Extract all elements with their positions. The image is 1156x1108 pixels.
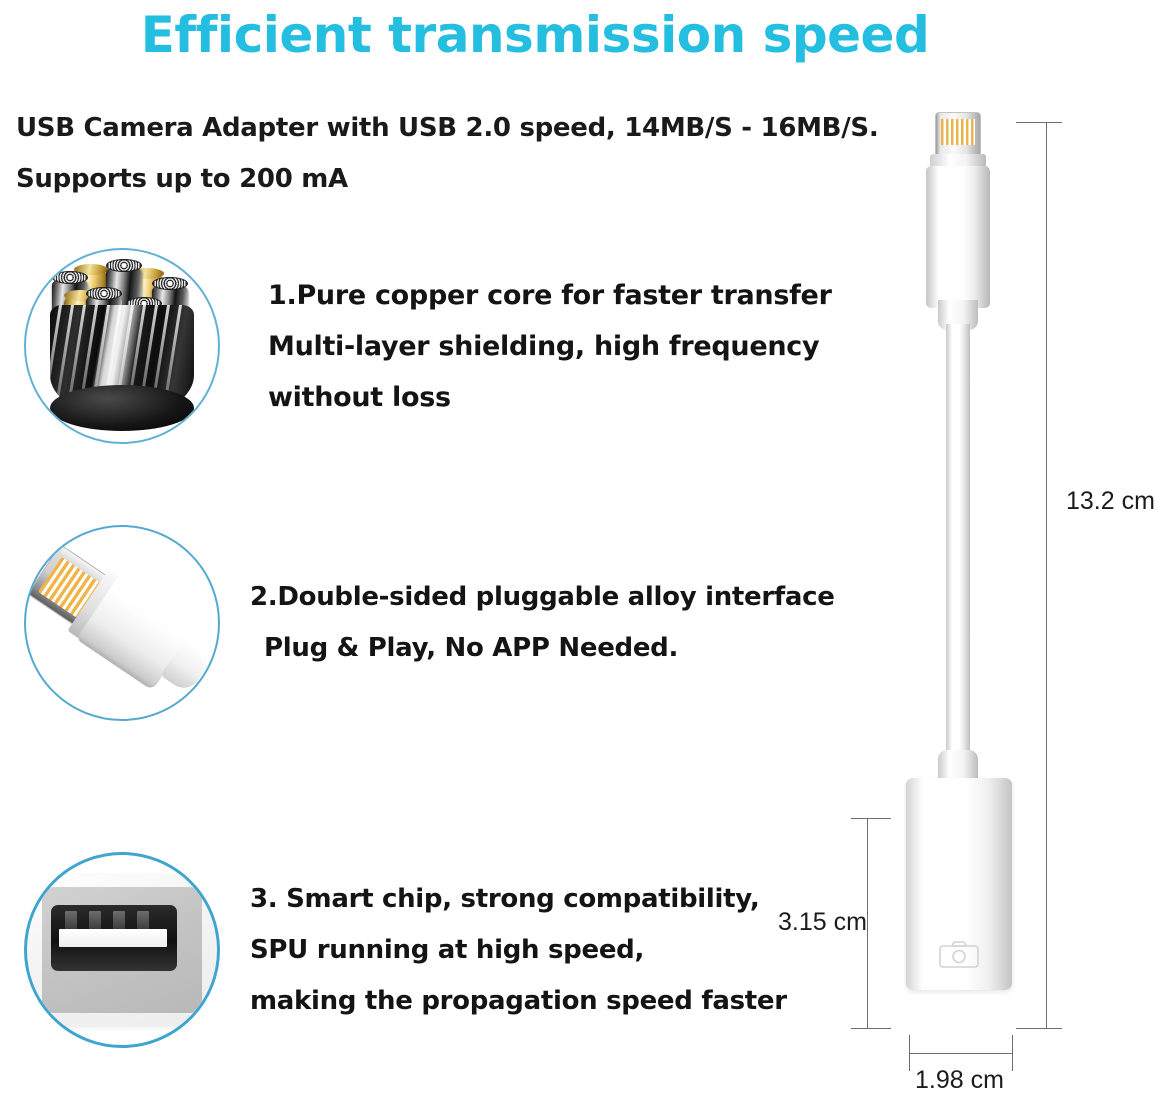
dim-line-adapter-height [867, 818, 868, 1028]
feature-3-line-1: 3. Smart chip, strong compatibility, [250, 874, 787, 925]
dim-tick-total-length-top [1016, 122, 1062, 123]
usb-adapter-body [906, 778, 1012, 990]
dim-tick-total-length-bottom [1016, 1028, 1062, 1029]
dim-tick-adapter-width-right [1012, 1035, 1013, 1071]
feature-1-line-3: without loss [268, 372, 832, 423]
dim-tick-adapter-height-bottom [851, 1028, 891, 1029]
dim-label-adapter-height: 3.15 cm [778, 908, 867, 937]
feature-2-text: 2.Double-sided pluggable alloy interface… [250, 572, 835, 674]
page-title: Efficient transmission speed [0, 6, 1070, 64]
dim-label-adapter-width: 1.98 cm [915, 1066, 1004, 1095]
feature-row-3: 3. Smart chip, strong compatibility, SPU… [24, 852, 844, 1048]
subtitle-block: USB Camera Adapter with USB 2.0 speed, 1… [16, 103, 896, 205]
infographic-page: Efficient transmission speed USB Camera … [0, 0, 1156, 1108]
subtitle-line-1: USB Camera Adapter with USB 2.0 speed, 1… [16, 103, 896, 154]
feature-3-text: 3. Smart chip, strong compatibility, SPU… [250, 874, 787, 1027]
subtitle-line-2: Supports up to 200 mA [16, 154, 896, 205]
feature-1-text: 1.Pure copper core for faster transfer M… [268, 270, 832, 423]
dim-label-total-length: 13.2 cm [1066, 487, 1155, 516]
cable [946, 324, 970, 764]
camera-icon [939, 940, 979, 968]
feature-1-line-2: Multi-layer shielding, high frequency [268, 321, 832, 372]
lightning-plug-pins [941, 119, 975, 145]
feature-row-2: 2.Double-sided pluggable alloy interface… [24, 525, 844, 721]
lightning-connector-icon [24, 525, 220, 721]
dim-line-adapter-width [909, 1053, 1013, 1054]
copper-wire-bundle-icon [24, 248, 220, 444]
lightning-plug-head [935, 112, 981, 158]
dim-tick-adapter-height-top [851, 818, 891, 819]
feature-2-line-1: 2.Double-sided pluggable alloy interface [250, 572, 835, 623]
feature-3-line-3: making the propagation speed faster [250, 976, 787, 1027]
feature-3-line-2: SPU running at high speed, [250, 925, 787, 976]
product-photo [880, 100, 1080, 1050]
dim-line-total-length [1046, 122, 1047, 1028]
usb-a-port-icon [24, 852, 220, 1048]
feature-row-1: 1.Pure copper core for faster transfer M… [24, 248, 844, 444]
feature-2-line-2: Plug & Play, No APP Needed. [250, 623, 835, 674]
feature-1-line-1: 1.Pure copper core for faster transfer [268, 270, 832, 321]
plug-housing [926, 166, 990, 308]
